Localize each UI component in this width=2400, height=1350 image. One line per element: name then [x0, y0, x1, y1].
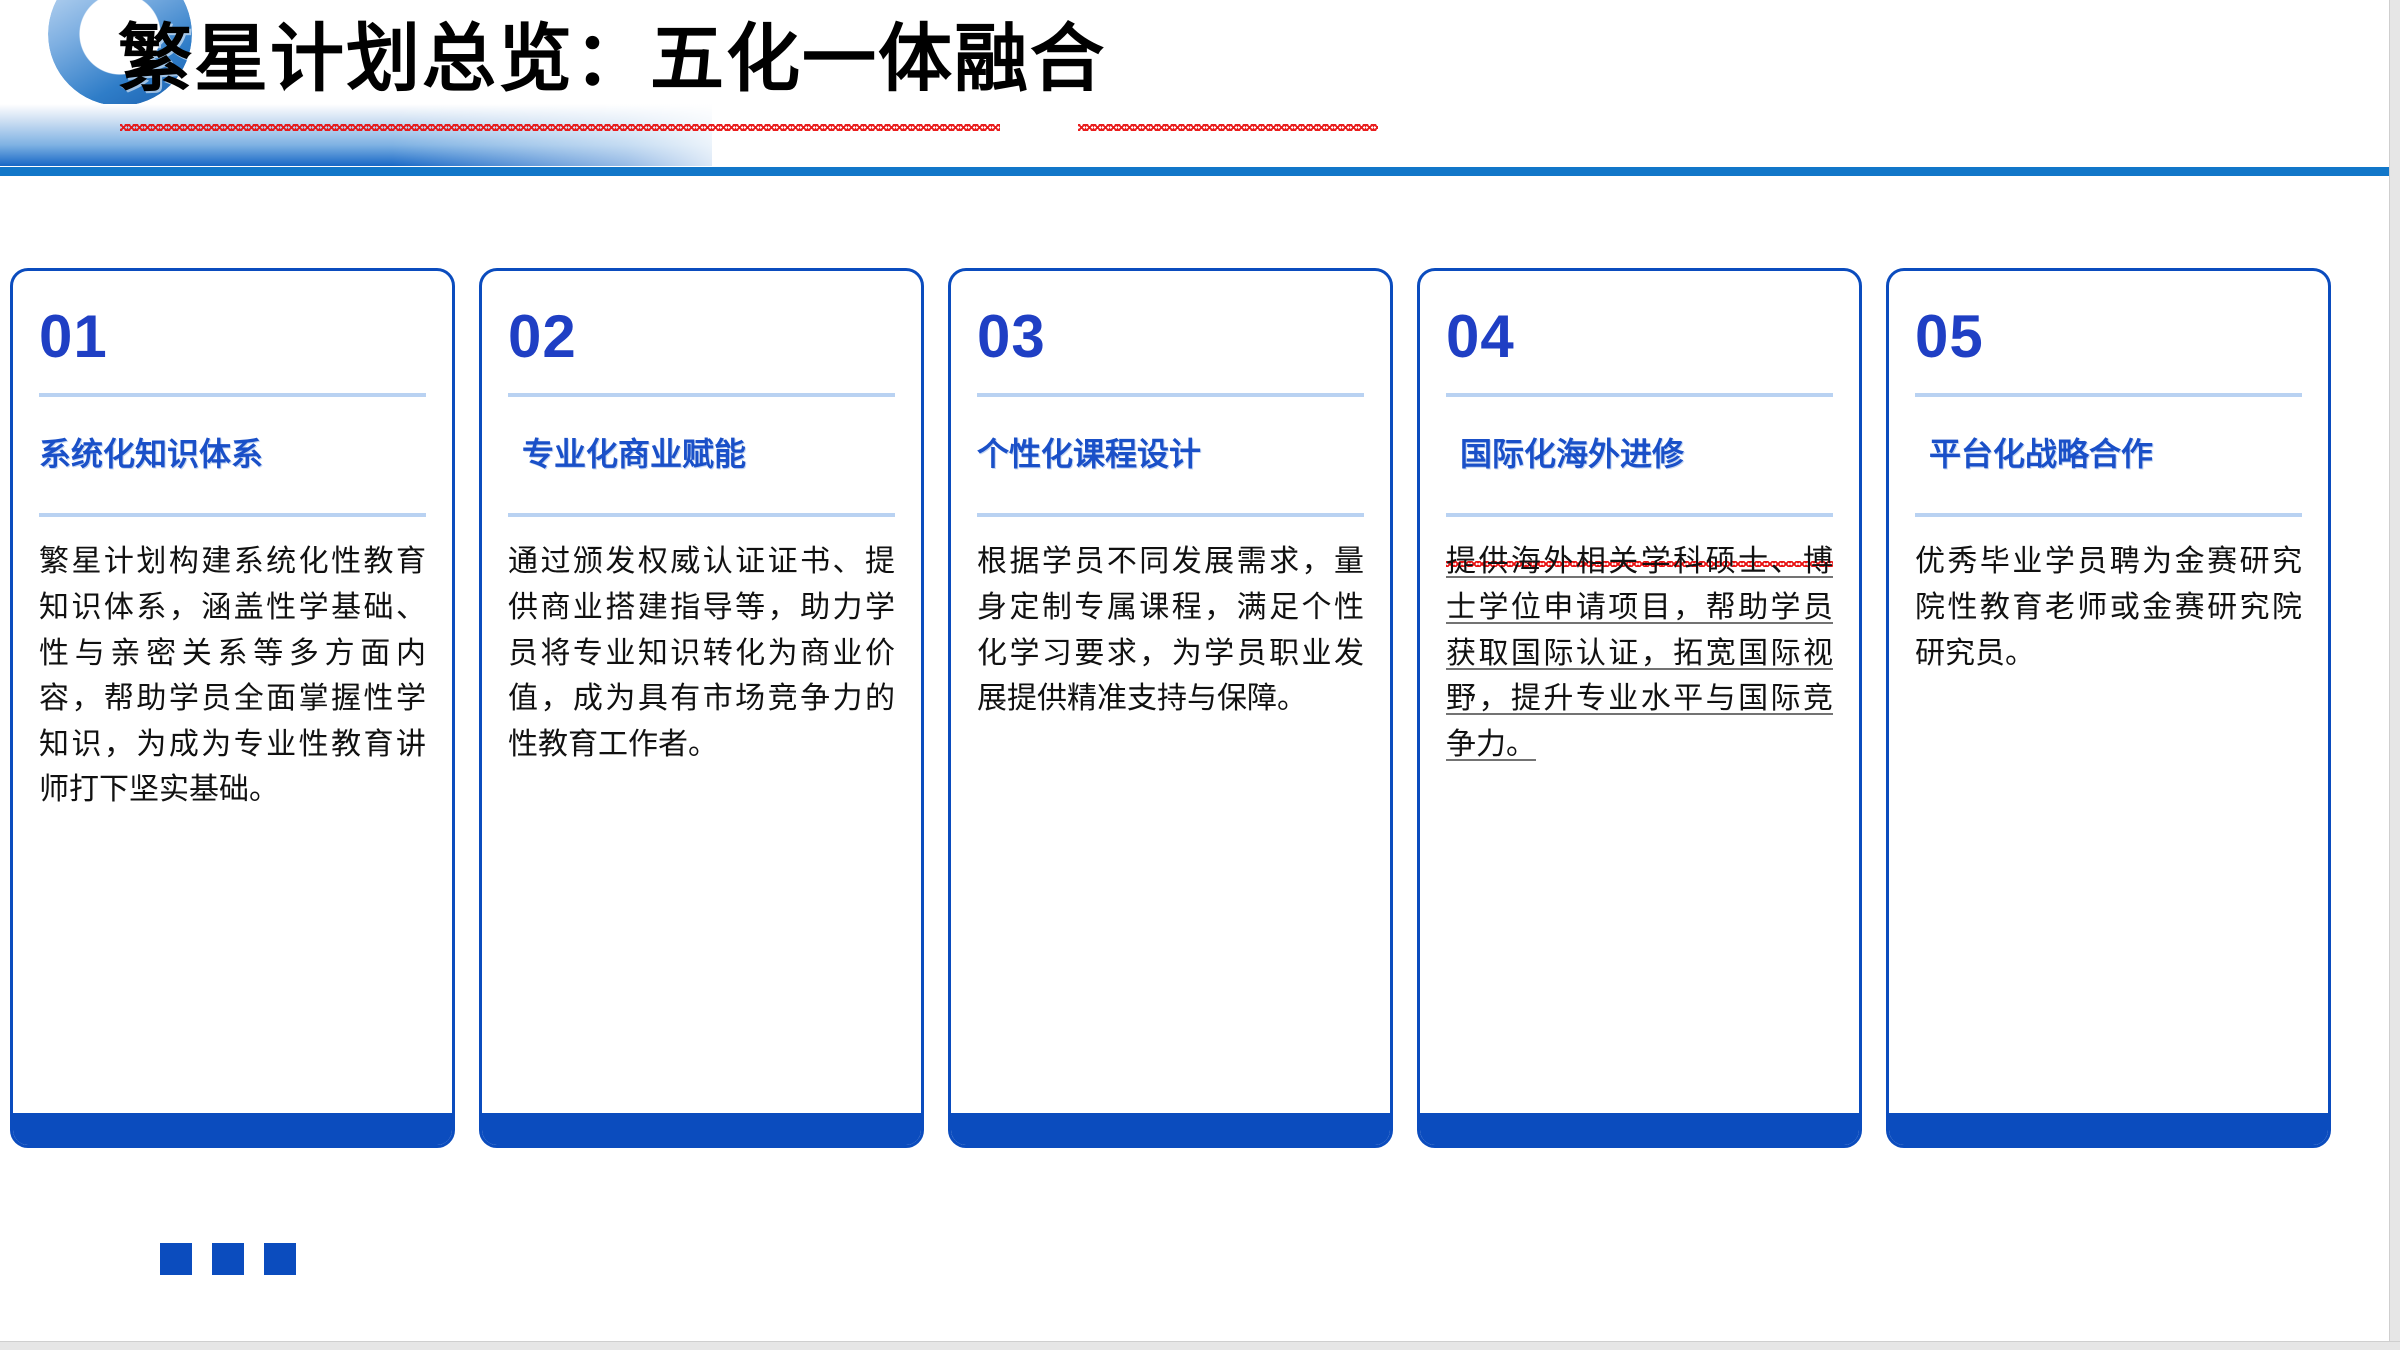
page-edge-bottom	[0, 1341, 2400, 1350]
title-gradient-band-fade	[0, 104, 712, 166]
feature-card[interactable]: 02 专业化商业赋能 通过颁发权威认证证书、提供商业搭建指导等，助力学员将专业知…	[479, 268, 924, 1148]
card-heading: 国际化海外进修	[1446, 397, 1833, 513]
card-bottom-bar	[951, 1113, 1390, 1145]
card-body-text: 提供海外相关学科硕士、博士学位申请项目，帮助学员获取国际认证，拓宽国际视野，提升…	[1446, 517, 1833, 767]
card-heading: 专业化商业赋能	[508, 397, 895, 513]
card-bottom-bar	[482, 1113, 921, 1145]
card-content: 05 平台化战略合作 优秀毕业学员聘为金赛研究院性教育老师或金赛研究院研究员。	[1889, 271, 2328, 676]
page-edge-right	[2389, 0, 2400, 1350]
card-bottom-bar	[13, 1113, 452, 1145]
card-number: 04	[1446, 307, 1833, 367]
card-body-text: 通过颁发权威认证证书、提供商业搭建指导等，助力学员将专业知识转化为商业价值，成为…	[508, 517, 895, 767]
card-number: 01	[39, 307, 426, 367]
card-bottom-bar	[1420, 1113, 1859, 1145]
card-number: 03	[977, 307, 1364, 367]
header-divider-rule	[0, 167, 2400, 176]
decorative-squares	[160, 1243, 296, 1275]
feature-card[interactable]: 03 个性化课程设计 根据学员不同发展需求，量身定制专属课程，满足个性化学习要求…	[948, 268, 1393, 1148]
spellcheck-squiggle-icon	[120, 124, 1000, 131]
page-title: 繁星计划总览：五化一体融合	[118, 22, 1106, 96]
feature-card[interactable]: 05 平台化战略合作 优秀毕业学员聘为金赛研究院性教育老师或金赛研究院研究员。	[1886, 268, 2331, 1148]
slide-header: 繁星计划总览：五化一体融合	[0, 0, 2400, 180]
card-body-text: 根据学员不同发展需求，量身定制专属课程，满足个性化学习要求，为学员职业发展提供精…	[977, 517, 1364, 721]
decorative-square-icon	[160, 1243, 192, 1275]
card-content: 01 系统化知识体系 繁星计划构建系统化性教育知识体系，涵盖性学基础、性与亲密关…	[13, 271, 452, 813]
card-body-text: 优秀毕业学员聘为金赛研究院性教育老师或金赛研究院研究员。	[1915, 517, 2302, 676]
decorative-square-icon	[264, 1243, 296, 1275]
feature-card-row: 01 系统化知识体系 繁星计划构建系统化性教育知识体系，涵盖性学基础、性与亲密关…	[10, 268, 2390, 1148]
card-content: 02 专业化商业赋能 通过颁发权威认证证书、提供商业搭建指导等，助力学员将专业知…	[482, 271, 921, 767]
card-heading: 个性化课程设计	[977, 397, 1364, 513]
feature-card[interactable]: 01 系统化知识体系 繁星计划构建系统化性教育知识体系，涵盖性学基础、性与亲密关…	[10, 268, 455, 1148]
card-number: 02	[508, 307, 895, 367]
decorative-square-icon	[212, 1243, 244, 1275]
card-content: 04 国际化海外进修 提供海外相关学科硕士、博士学位申请项目，帮助学员获取国际认…	[1420, 271, 1859, 767]
card-heading: 系统化知识体系	[39, 397, 426, 513]
card-heading: 平台化战略合作	[1915, 397, 2302, 513]
card-body-text: 繁星计划构建系统化性教育知识体系，涵盖性学基础、性与亲密关系等多方面内容，帮助学…	[39, 517, 426, 813]
feature-card[interactable]: 04 国际化海外进修 提供海外相关学科硕士、博士学位申请项目，帮助学员获取国际认…	[1417, 268, 1862, 1148]
card-content: 03 个性化课程设计 根据学员不同发展需求，量身定制专属课程，满足个性化学习要求…	[951, 271, 1390, 722]
card-number: 05	[1915, 307, 2302, 367]
card-bottom-bar	[1889, 1113, 2328, 1145]
spellcheck-squiggle-icon	[1078, 124, 1378, 131]
